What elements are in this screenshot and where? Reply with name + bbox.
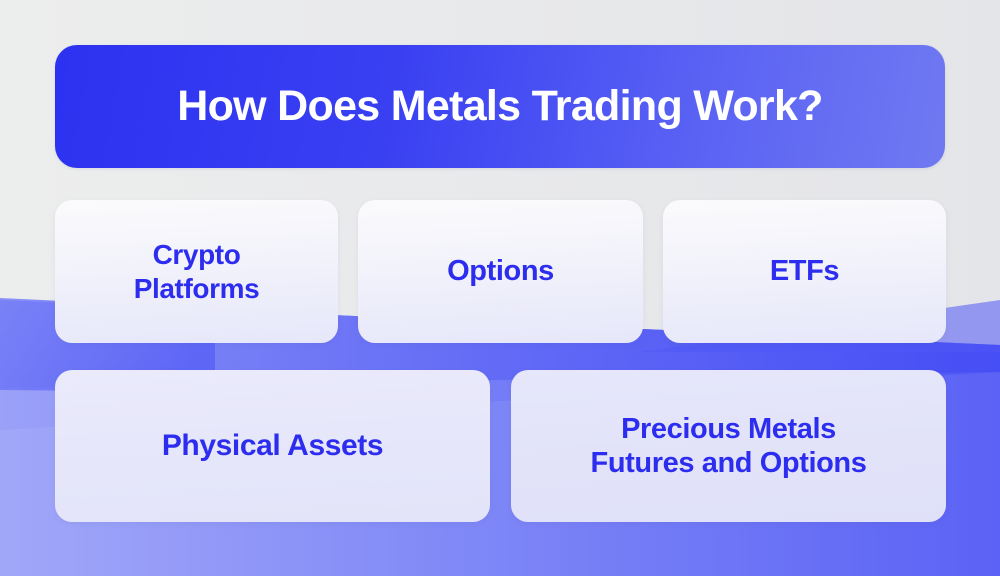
card-etfs[interactable]: ETFs bbox=[663, 200, 946, 343]
card-label: Physical Assets bbox=[162, 428, 383, 463]
card-precious-metals-futures-and-options[interactable]: Precious Metals Futures and Options bbox=[511, 370, 946, 522]
card-crypto-platforms[interactable]: Crypto Platforms bbox=[55, 200, 338, 343]
card-options[interactable]: Options bbox=[358, 200, 643, 343]
card-physical-assets[interactable]: Physical Assets bbox=[55, 370, 490, 522]
card-label: Precious Metals Futures and Options bbox=[591, 412, 867, 480]
card-label: Options bbox=[447, 254, 554, 288]
card-label: ETFs bbox=[770, 254, 839, 288]
content-layer: How Does Metals Trading Work? Crypto Pla… bbox=[0, 0, 1000, 576]
page-title: How Does Metals Trading Work? bbox=[177, 83, 823, 130]
card-label: Crypto Platforms bbox=[134, 238, 260, 304]
header-banner: How Does Metals Trading Work? bbox=[55, 45, 945, 168]
infographic-canvas: How Does Metals Trading Work? Crypto Pla… bbox=[0, 0, 1000, 576]
